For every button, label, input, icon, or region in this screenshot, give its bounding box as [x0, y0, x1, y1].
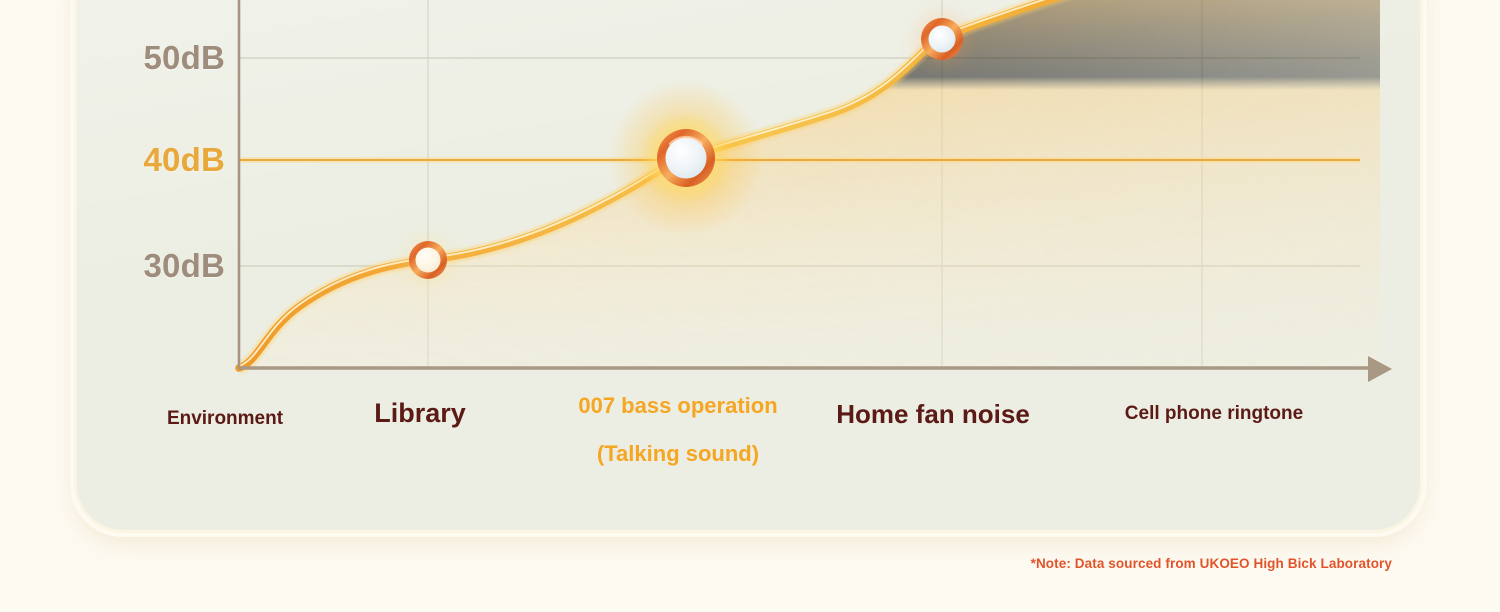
data-source-footnote: *Note: Data sourced from UKOEO High Bick…	[1031, 556, 1392, 571]
y-tick-50db: 50dB	[85, 41, 225, 74]
x-label-home-fan-noise: Home fan noise	[836, 398, 1030, 431]
x-label-cell-phone-ringtone: Cell phone ringtone	[1125, 402, 1303, 426]
y-tick-40db: 40dB	[85, 143, 225, 176]
x-label-library: Library	[374, 397, 466, 431]
x-label-environment: Environment	[167, 407, 283, 431]
x-label-library-text: Library	[374, 397, 466, 431]
x-label-environment-text: Environment	[167, 407, 283, 431]
x-label-talking-sound-text: (Talking sound)	[578, 440, 777, 468]
y-tick-30db: 30dB	[85, 249, 225, 282]
x-label-007-bass-operation-text: 007 bass operation	[578, 392, 777, 420]
x-label-007-bass-operation: 007 bass operation (Talking sound)	[578, 392, 777, 467]
x-label-home-fan-noise-text: Home fan noise	[836, 398, 1030, 431]
y-axis-labels: 50dB 40dB 30dB	[85, 0, 225, 400]
x-label-cell-phone-ringtone-text: Cell phone ringtone	[1125, 402, 1303, 426]
